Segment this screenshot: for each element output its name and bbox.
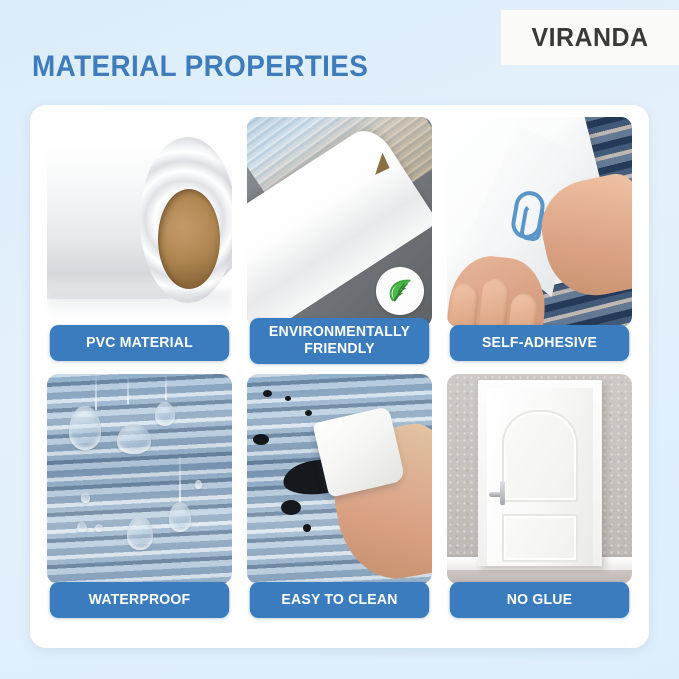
features-grid: PVC MATERIAL xyxy=(47,117,632,635)
ink-spot xyxy=(281,500,301,515)
drop-trail xyxy=(95,376,97,410)
door-frame xyxy=(478,380,602,566)
no-glue-image xyxy=(447,374,632,584)
eco-badge xyxy=(376,267,424,315)
roll-shadow xyxy=(47,291,232,317)
feature-label-easy-to-clean: EASY TO CLEAN xyxy=(250,582,429,618)
ink-spot xyxy=(305,410,312,416)
water-droplet xyxy=(77,522,87,532)
water-droplet xyxy=(95,524,103,532)
striped-wood-texture xyxy=(47,374,232,584)
waterproof-illustration xyxy=(47,374,232,584)
roll-cardboard-core xyxy=(158,189,220,289)
peel-illustration xyxy=(447,117,632,327)
door-handle xyxy=(489,492,505,497)
feature-label-waterproof: WATERPROOF xyxy=(50,582,229,618)
water-droplet xyxy=(169,502,191,532)
ink-spot xyxy=(285,396,291,401)
door-illustration xyxy=(447,374,632,584)
drop-trail xyxy=(127,378,129,404)
feature-card-waterproof[interactable]: WATERPROOF xyxy=(47,374,232,621)
feature-card-self-adhesive[interactable]: SELF-ADHESIVE xyxy=(447,117,632,364)
green-leaf-icon xyxy=(385,276,415,306)
water-droplet xyxy=(69,406,101,450)
water-droplet xyxy=(195,480,202,489)
water-droplet xyxy=(127,516,153,550)
feature-card-environmentally-friendly[interactable]: ENVIRONMENTALLY FRIENDLY xyxy=(247,117,432,364)
feature-card-easy-to-clean[interactable]: EASY TO CLEAN xyxy=(247,374,432,621)
ink-spot xyxy=(253,434,269,445)
eco-illustration xyxy=(247,117,432,327)
brand-name: VIRANDA xyxy=(531,22,648,53)
feature-card-pvc-material[interactable]: PVC MATERIAL xyxy=(47,117,232,364)
eco-wallpaper-image xyxy=(247,117,432,327)
wallpaper-corner-tip xyxy=(368,153,390,175)
finger xyxy=(506,293,539,327)
feature-label-no-glue: NO GLUE xyxy=(450,582,629,618)
feature-card-no-glue[interactable]: NO GLUE xyxy=(447,374,632,621)
waterproof-image xyxy=(47,374,232,584)
drop-trail xyxy=(165,376,167,400)
page-title: MATERIAL PROPERTIES xyxy=(32,50,368,84)
pvc-roll-image xyxy=(47,117,232,327)
ink-spot xyxy=(263,390,272,397)
drop-trail xyxy=(179,456,181,502)
brand-logo-box: VIRANDA xyxy=(501,10,679,65)
easy-to-clean-image xyxy=(247,374,432,584)
water-droplet xyxy=(81,492,90,503)
pvc-roll-illustration xyxy=(47,117,232,327)
door-slab xyxy=(487,388,593,566)
water-droplet xyxy=(117,424,151,454)
finger xyxy=(476,277,511,327)
feature-label-self-adhesive: SELF-ADHESIVE xyxy=(450,325,629,361)
features-panel: PVC MATERIAL xyxy=(30,105,649,648)
roll-end-shape xyxy=(140,137,232,303)
feature-label-pvc-material: PVC MATERIAL xyxy=(50,325,229,361)
ink-spot xyxy=(303,524,311,532)
finger xyxy=(447,282,480,327)
feature-label-environmentally-friendly: ENVIRONMENTALLY FRIENDLY xyxy=(250,318,429,364)
door-panel-top xyxy=(502,410,578,502)
self-adhesive-image xyxy=(447,117,632,327)
door-panel-bottom xyxy=(502,514,578,562)
water-droplet xyxy=(155,402,175,426)
easy-to-clean-illustration xyxy=(247,374,432,584)
page-header: VIRANDA MATERIAL PROPERTIES xyxy=(0,0,679,104)
